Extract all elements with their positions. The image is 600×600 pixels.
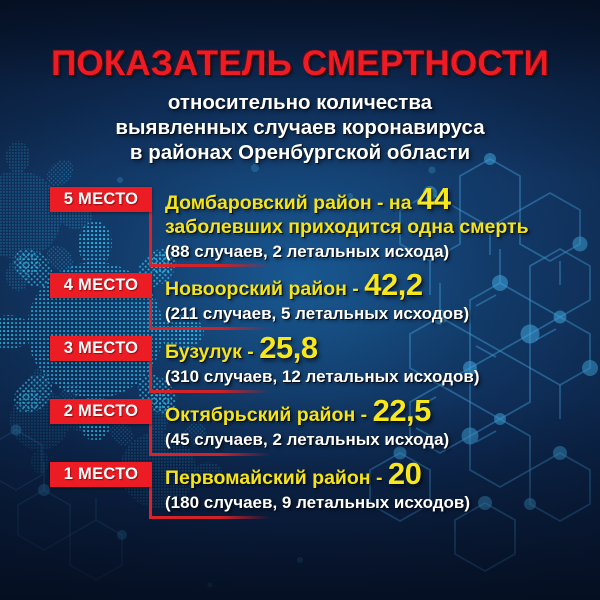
infographic-poster: ПОКАЗАТЕЛЬ СМЕРТНОСТИ относительно колич… [0,0,600,600]
rank-detail: (211 случаев, 5 летальных исходов) [165,303,469,324]
subtitle-line-1: относительно количества [50,90,550,115]
poster-content: ПОКАЗАТЕЛЬ СМЕРТНОСТИ относительно колич… [0,0,600,600]
ratio-value: 44 [417,181,450,216]
rank-main-line: Октябрьский район - 22,5 [165,399,449,427]
subtitle-line-3: в районах Оренбургской области [50,140,550,165]
rank-badge: 5 МЕСТО [50,187,152,212]
rank-main-line: Первомайский район - 20 [165,462,470,490]
rank-badge: 1 МЕСТО [50,462,152,487]
district-name: Октябрьский район - [165,404,367,426]
ranking-row: 2 МЕСТО Октябрьский район - 22,5 (45 слу… [50,399,600,456]
ratio-value: 25,8 [259,330,317,365]
district-name: Домбаровский район - на [165,192,412,214]
rank-badge: 2 МЕСТО [50,399,152,424]
rank-badge: 3 МЕСТО [50,336,152,361]
subtitle-line-2: выявленных случаев коронавируса [50,115,550,140]
rank-badge: 4 МЕСТО [50,273,152,298]
poster-header: ПОКАЗАТЕЛЬ СМЕРТНОСТИ относительно колич… [0,0,600,165]
ranking-list: 5 МЕСТО Домбаровский район - на 44 забол… [0,187,600,519]
page-subtitle: относительно количества выявленных случа… [50,90,550,165]
ranking-row: 5 МЕСТО Домбаровский район - на 44 забол… [50,187,600,267]
rank-detail: (45 случаев, 2 летальных исхода) [165,429,449,450]
rank-detail: (180 случаев, 9 летальных исходов) [165,492,470,513]
ranking-row: 3 МЕСТО Бузулук - 25,8 (310 случаев, 12 … [50,336,600,393]
page-title: ПОКАЗАТЕЛЬ СМЕРТНОСТИ [0,44,600,84]
ratio-tail: заболевших приходится одна смерть [165,216,529,238]
ratio-value: 42,2 [364,267,422,302]
rank-bracket: Новоорский район - 42,2 (211 случаев, 5 … [149,273,469,330]
district-name: Бузулук - [165,341,254,363]
rank-detail: (310 случаев, 12 летальных исходов) [165,366,480,387]
district-name: Первомайский район - [165,467,383,489]
rank-bracket: Октябрьский район - 22,5 (45 случаев, 2 … [149,399,449,456]
ranking-row: 1 МЕСТО Первомайский район - 20 (180 слу… [50,462,600,519]
ratio-value: 20 [388,456,421,491]
district-name: Новоорский район - [165,278,359,300]
ratio-value: 22,5 [373,393,431,428]
rank-main-line: Бузулук - 25,8 [165,336,480,364]
ranking-row: 4 МЕСТО Новоорский район - 42,2 (211 слу… [50,273,600,330]
rank-main-line: Новоорский район - 42,2 [165,273,469,301]
rank-bracket: Первомайский район - 20 (180 случаев, 9 … [149,462,470,519]
rank-detail: (88 случаев, 2 летальных исхода) [165,241,569,262]
rank-bracket: Домбаровский район - на 44 заболевших пр… [149,187,569,267]
rank-bracket: Бузулук - 25,8 (310 случаев, 12 летальны… [149,336,480,393]
rank-main-line: Домбаровский район - на 44 заболевших пр… [165,187,569,239]
